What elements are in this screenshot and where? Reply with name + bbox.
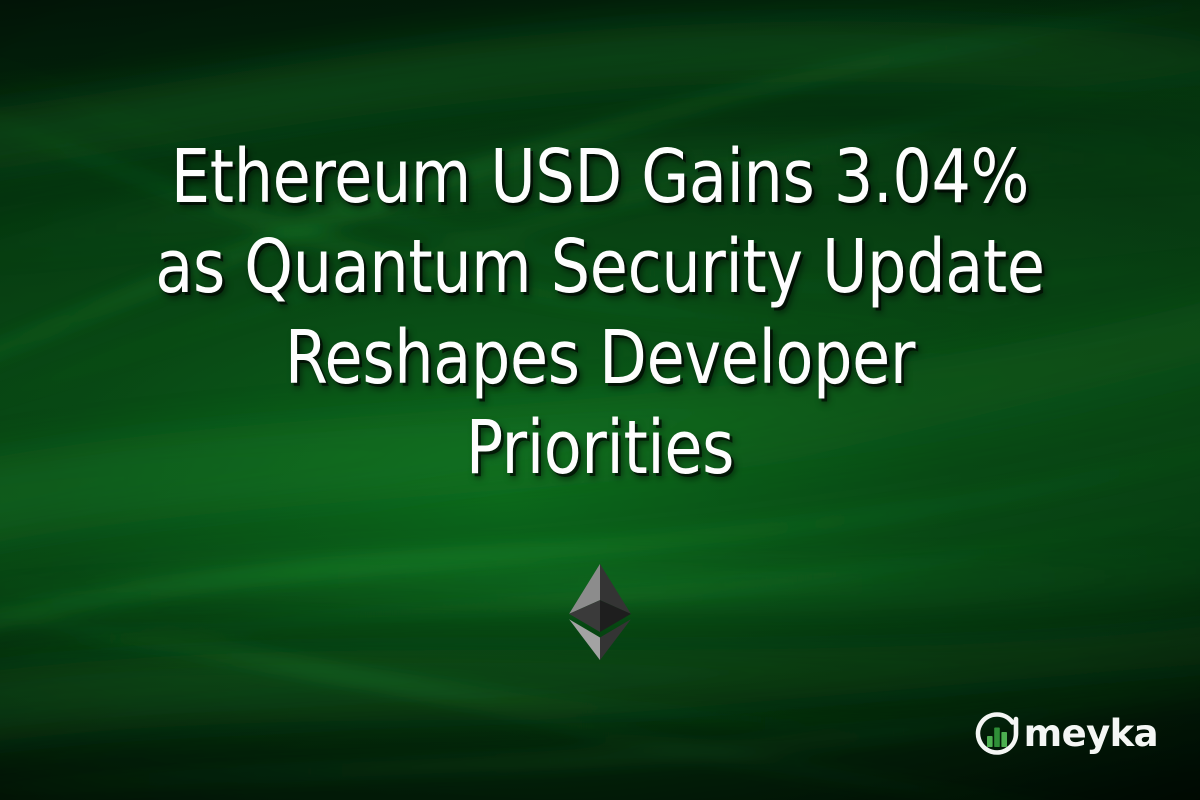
headline-container: Ethereum USD Gains 3.04% as Quantum Secu… xyxy=(0,132,1200,493)
meyka-bar-chart-circle-icon xyxy=(972,708,1022,758)
brand-logo[interactable]: meyka xyxy=(972,708,1158,758)
page-title: Ethereum USD Gains 3.04% as Quantum Secu… xyxy=(79,132,1121,493)
brand-name: meyka xyxy=(1024,715,1158,752)
ethereum-diamond-icon xyxy=(564,562,636,662)
social-card: Ethereum USD Gains 3.04% as Quantum Secu… xyxy=(0,0,1200,800)
